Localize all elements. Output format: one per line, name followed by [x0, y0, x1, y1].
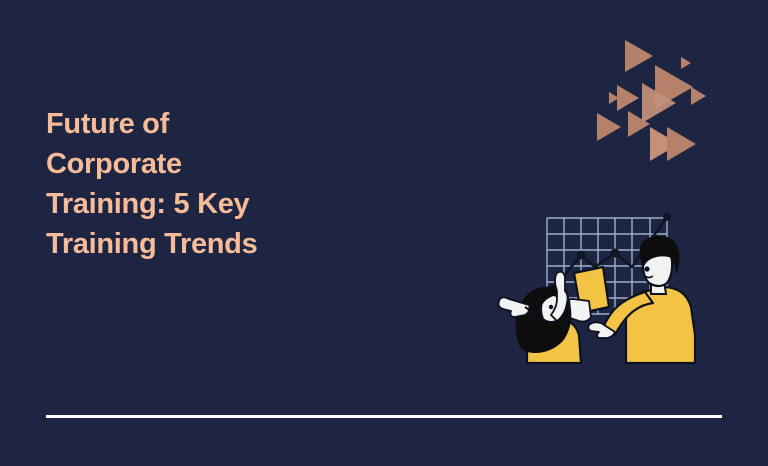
illustration-people-growth-chart — [495, 195, 720, 365]
triangle-cluster — [595, 35, 720, 160]
triangle-icon — [667, 127, 696, 161]
bottom-divider — [46, 415, 722, 418]
page-title: Future of Corporate Training: 5 Key Trai… — [46, 104, 346, 264]
title-line-4: Training Trends — [46, 224, 346, 264]
triangle-icon — [597, 113, 621, 141]
title-line-1: Future of — [46, 104, 346, 144]
blog-header-banner: Future of Corporate Training: 5 Key Trai… — [0, 0, 768, 466]
title-line-2: Corporate — [46, 144, 346, 184]
triangle-icon — [691, 87, 706, 105]
triangle-icon — [625, 40, 653, 72]
triangle-icon — [617, 85, 639, 111]
title-line-3: Training: 5 Key — [46, 184, 346, 224]
triangle-icon — [628, 111, 650, 137]
person-woman — [499, 272, 582, 363]
